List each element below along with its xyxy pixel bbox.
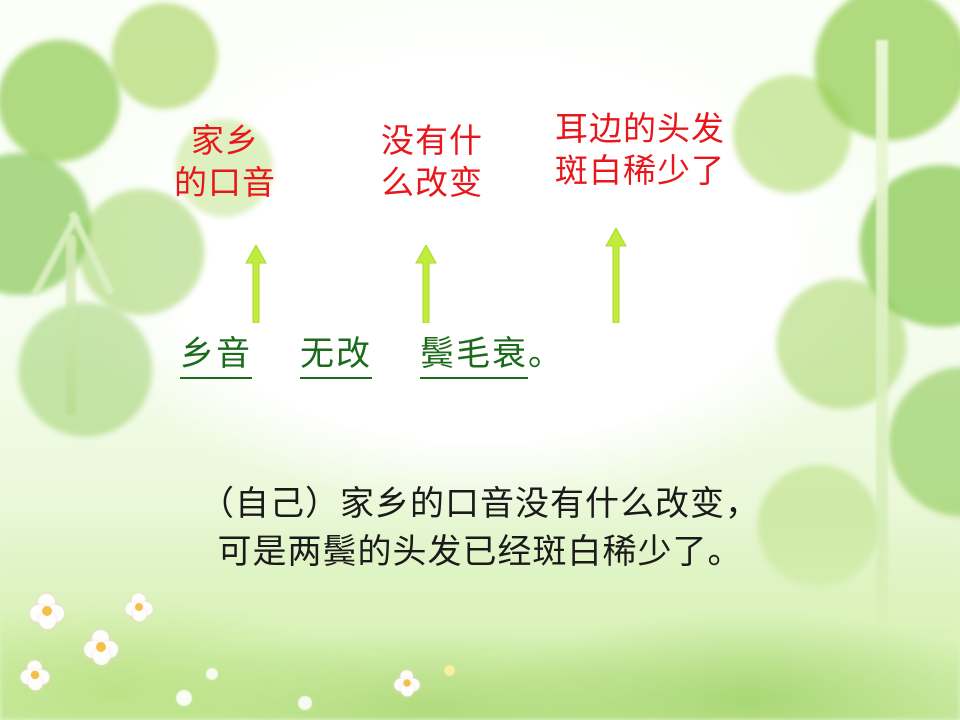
translation-block: （自己）家乡的口音没有什么改变， 可是两鬓的头发已经斑白稀少了。 — [60, 480, 900, 577]
up-arrow-icon-3 — [605, 228, 627, 306]
slide-content: 家乡 的口音 没有什 么改变 耳边的头发 斑白稀少了 乡音无改鬓毛衰。 （自己）… — [0, 0, 960, 720]
slide-canvas: 家乡 的口音 没有什 么改变 耳边的头发 斑白稀少了 乡音无改鬓毛衰。 （自己）… — [0, 0, 960, 720]
translation-line-2: 可是两鬓的头发已经斑白稀少了。 — [60, 528, 900, 576]
annotation-text-2: 没有什 么改变 — [352, 120, 512, 204]
poem-segment-3: 鬓毛衰 — [420, 326, 528, 379]
annotation-text-1: 家乡 的口音 — [150, 120, 300, 204]
poem-ending-punctuation: 。 — [528, 326, 564, 375]
poem-segment-2: 无改 — [300, 326, 372, 379]
poem-segment-1: 乡音 — [180, 326, 252, 379]
up-arrow-icon-2 — [415, 245, 437, 323]
annotation-text-3: 耳边的头发 斑白稀少了 — [555, 108, 805, 192]
poem-line: 乡音无改鬓毛衰。 — [180, 326, 800, 379]
translation-line-1: （自己）家乡的口音没有什么改变， — [200, 484, 760, 524]
up-arrow-icon-1 — [245, 245, 267, 323]
